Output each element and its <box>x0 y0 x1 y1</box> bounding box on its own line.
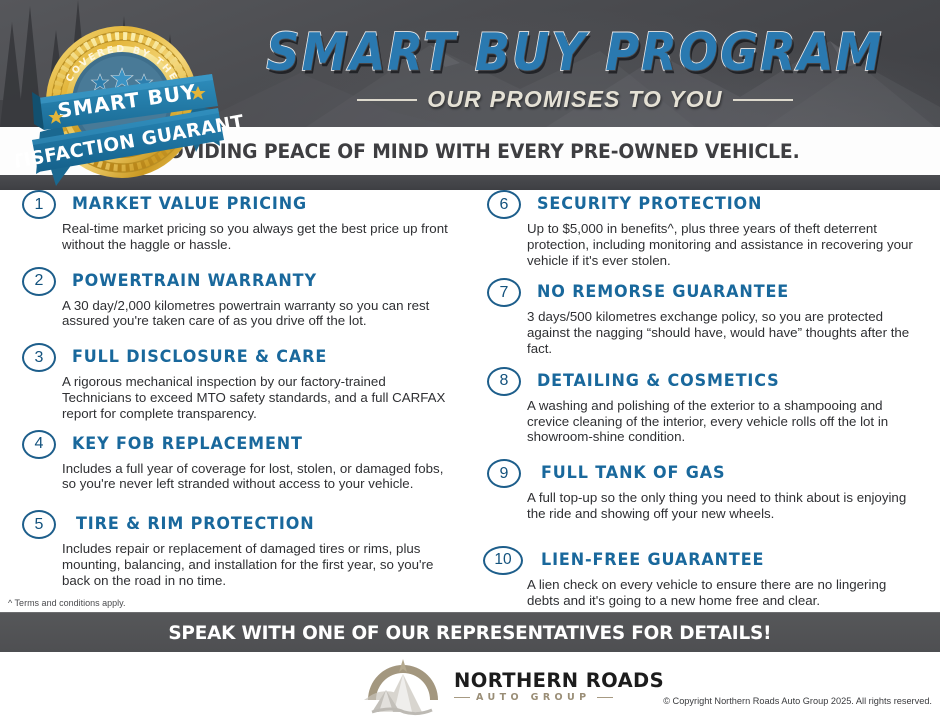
promise-item: 10 LIEN-FREE GUARANTEE A lien check on e… <box>475 546 930 609</box>
promise-body: Includes repair or replacement of damage… <box>62 541 465 588</box>
promise-title: TIRE & RIM PROTECTION <box>76 514 314 533</box>
copyright-text: © Copyright Northern Roads Auto Group 20… <box>663 696 932 706</box>
promise-body: Up to $5,000 in benefits^, plus three ye… <box>527 221 930 268</box>
terms-note: ^ Terms and conditions apply. <box>8 598 125 608</box>
promise-title: MARKET VALUE PRICING <box>72 194 307 213</box>
cta-text: SPEAK WITH ONE OF OUR REPRESENTATIVES FO… <box>168 622 771 644</box>
promise-item: 1 MARKET VALUE PRICING Real-time market … <box>10 190 465 253</box>
promise-body: A rigorous mechanical inspection by our … <box>62 374 465 421</box>
subtitle-rule-left <box>357 99 417 101</box>
promise-title: POWERTRAIN WARRANTY <box>72 271 317 290</box>
promise-title: FULL TANK OF GAS <box>541 463 725 482</box>
header-title-wrap: SMART BUY PROGRAM <box>210 22 940 76</box>
promise-number: 10 <box>483 546 523 575</box>
promise-item: 4 KEY FOB REPLACEMENT Includes a full ye… <box>10 430 465 493</box>
brand-subtitle: AUTO GROUP <box>476 692 591 703</box>
promises-column-left: 1 MARKET VALUE PRICING Real-time market … <box>10 190 465 593</box>
promise-item: 2 POWERTRAIN WARRANTY A 30 day/2,000 kil… <box>10 267 465 330</box>
brand-sub-rule-left <box>454 697 470 699</box>
promise-item: 9 FULL TANK OF GAS A full top-up so the … <box>475 459 930 522</box>
brand-name: NORTHERN ROADS <box>454 671 664 691</box>
brand-sub-rule-right <box>597 697 613 699</box>
brand-logo[interactable]: NORTHERN ROADS AUTO GROUP <box>360 656 664 718</box>
promise-number: 9 <box>487 459 521 488</box>
promise-item: 7 NO REMORSE GUARANTEE 3 days/500 kilome… <box>475 278 930 356</box>
promise-item: 3 FULL DISCLOSURE & CARE A rigorous mech… <box>10 343 465 421</box>
smart-buy-program-page: SMART BUY PROGRAM OUR PROMISES TO YOU PR… <box>0 0 940 722</box>
promise-number: 3 <box>22 343 56 372</box>
page-subtitle: OUR PROMISES TO YOU <box>427 86 722 113</box>
promise-number: 7 <box>487 278 521 307</box>
promise-title: NO REMORSE GUARANTEE <box>537 282 789 301</box>
promise-title: SECURITY PROTECTION <box>537 194 762 213</box>
promises-column-right: 6 SECURITY PROTECTION Up to $5,000 in be… <box>475 190 930 612</box>
promise-body: A 30 day/2,000 kilometres powertrain war… <box>62 298 465 330</box>
promise-title: FULL DISCLOSURE & CARE <box>72 347 327 366</box>
promise-body: 3 days/500 kilometres exchange policy, s… <box>527 309 930 356</box>
promise-title: KEY FOB REPLACEMENT <box>72 434 303 453</box>
promise-item: 5 TIRE & RIM PROTECTION Includes repair … <box>10 510 465 588</box>
promises-content: 1 MARKET VALUE PRICING Real-time market … <box>0 190 940 602</box>
header-subtitle-row: OUR PROMISES TO YOU <box>210 86 940 113</box>
promise-title: LIEN-FREE GUARANTEE <box>541 550 764 569</box>
cta-bar: SPEAK WITH ONE OF OUR REPRESENTATIVES FO… <box>0 612 940 652</box>
promise-item: 8 DETAILING & COSMETICS A washing and po… <box>475 367 930 445</box>
promise-number: 2 <box>22 267 56 296</box>
mountain-compass-logo-icon <box>360 656 446 718</box>
satisfaction-guarantee-seal: COVERED BY THE SMART BUY <box>16 14 244 186</box>
promise-body: Includes a full year of coverage for los… <box>62 461 465 493</box>
promise-body: A full top-up so the only thing you need… <box>527 490 930 522</box>
promise-body: Real-time market pricing so you always g… <box>62 221 465 253</box>
page-footer: NORTHERN ROADS AUTO GROUP © Copyright No… <box>0 652 940 722</box>
subtitle-rule-right <box>733 99 793 101</box>
promise-body: A washing and polishing of the exterior … <box>527 398 930 445</box>
promise-number: 5 <box>22 510 56 539</box>
promise-number: 8 <box>487 367 521 396</box>
promise-number: 6 <box>487 190 521 219</box>
promise-item: 6 SECURITY PROTECTION Up to $5,000 in be… <box>475 190 930 268</box>
promise-title: DETAILING & COSMETICS <box>537 371 780 390</box>
promise-number: 4 <box>22 430 56 459</box>
promise-number: 1 <box>22 190 56 219</box>
promise-body: A lien check on every vehicle to ensure … <box>527 577 930 609</box>
page-title: SMART BUY PROGRAM <box>210 22 940 82</box>
